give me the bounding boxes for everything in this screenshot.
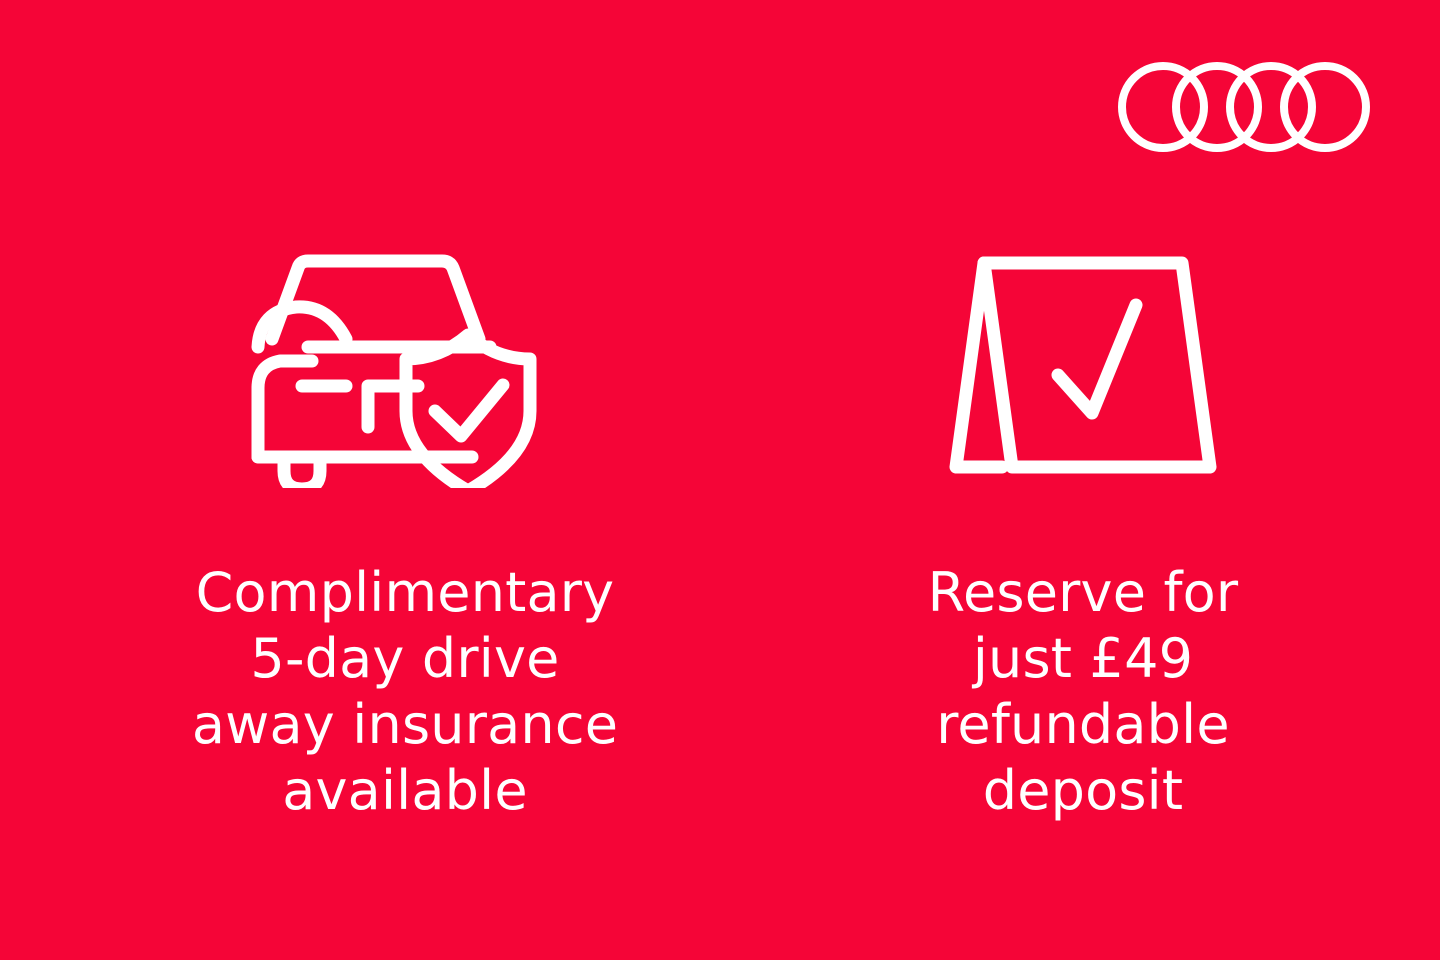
feature-deposit-line-3: refundable (803, 692, 1363, 758)
feature-refundable-deposit: Reserve for just £49 refundable deposit (803, 230, 1363, 824)
feature-insurance-line-3: away insurance (125, 692, 685, 758)
shield-checkmark (435, 385, 503, 436)
audi-four-rings-icon (1118, 58, 1372, 156)
promo-banner: Complimentary 5-day drive away insurance… (0, 0, 1440, 960)
card-front-panel (984, 263, 1210, 467)
car-shield-icon (250, 243, 560, 488)
car-shield-icon-frame (240, 230, 570, 500)
tent-card-check-icon-frame (918, 230, 1248, 500)
feature-insurance-line-1: Complimentary (125, 560, 685, 626)
car-roof-path (272, 261, 479, 339)
feature-complimentary-insurance: Complimentary 5-day drive away insurance… (125, 230, 685, 824)
card-checkmark (1058, 305, 1136, 413)
shield-outline (406, 335, 530, 488)
feature-insurance-text: Complimentary 5-day drive away insurance… (125, 560, 685, 824)
feature-deposit-line-4: deposit (803, 758, 1363, 824)
audi-ring-4 (1284, 66, 1366, 148)
feature-deposit-line-2: just £49 (803, 626, 1363, 692)
tent-card-check-icon (948, 249, 1218, 481)
feature-deposit-line-1: Reserve for (803, 560, 1363, 626)
feature-insurance-line-2: 5-day drive (125, 626, 685, 692)
feature-deposit-text: Reserve for just £49 refundable deposit (803, 560, 1363, 824)
feature-insurance-line-4: available (125, 758, 685, 824)
